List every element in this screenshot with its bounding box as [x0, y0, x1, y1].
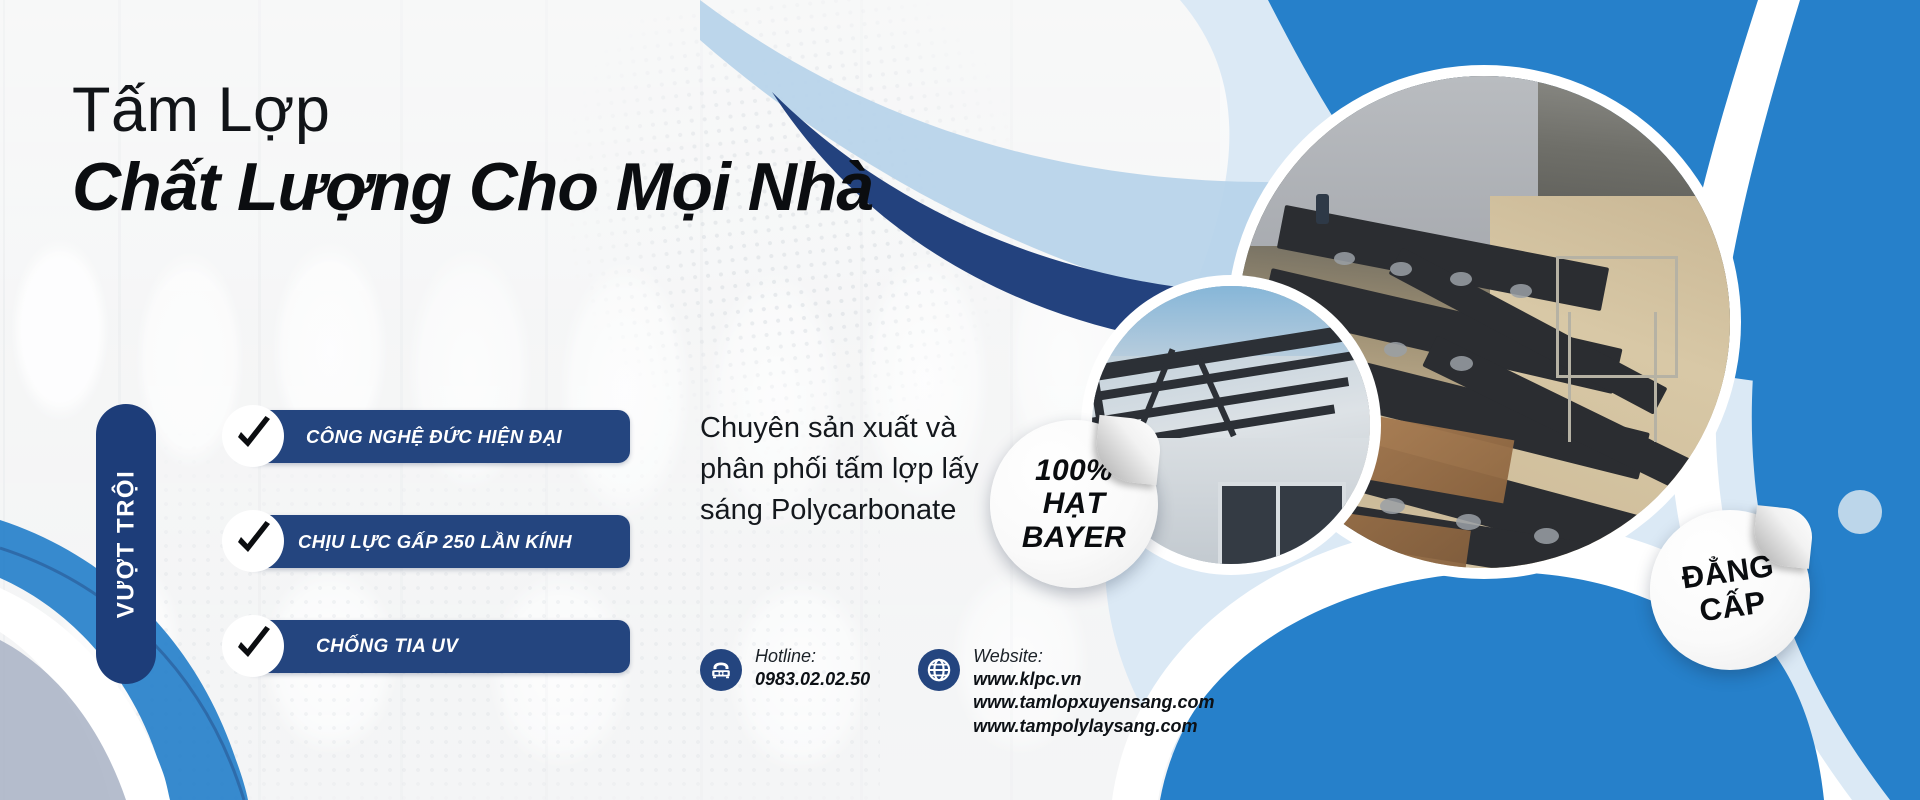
check-icon — [222, 510, 284, 572]
promo-banner: Tấm Lợp Chất Lượng Cho Mọi Nhà VƯỢT TRỘI… — [0, 0, 1920, 800]
description-text: Chuyên sản xuất và phân phối tấm lợp lấy… — [700, 408, 1000, 532]
bayer-line-2: HẠT — [1022, 487, 1126, 521]
hotline-value: 0983.02.02.50 — [755, 668, 870, 692]
feature-pill-1: CÔNG NGHỆ ĐỨC HIỆN ĐẠI — [244, 410, 630, 463]
feature-list: CÔNG NGHỆ ĐỨC HIỆN ĐẠI CHỊU LỰC GẤP 250 … — [222, 410, 630, 725]
dangcap-sticker: ĐẲNG CẤP — [1650, 510, 1810, 670]
feature-label-1: CÔNG NGHỆ ĐỨC HIỆN ĐẠI — [306, 426, 562, 448]
feature-label-3: CHỐNG TIA UV — [316, 636, 458, 658]
check-icon — [222, 405, 284, 467]
website-title: Website: — [973, 645, 1214, 668]
vertical-tab-vuot-troi: VƯỢT TRỘI — [96, 404, 156, 684]
website-url-2[interactable]: www.tamlopxuyensang.com — [973, 691, 1214, 715]
website-url-3[interactable]: www.tampolylaysang.com — [973, 715, 1214, 739]
bayer-line-3: BAYER — [1022, 521, 1126, 555]
contact-row: Hotline: 0983.02.02.50 Website: www.klpc… — [700, 645, 1215, 739]
vertical-tab-label: VƯỢT TRỘI — [112, 470, 140, 619]
feature-item-2[interactable]: CHỊU LỰC GẤP 250 LẦN KÍNH — [222, 515, 630, 568]
feature-pill-2: CHỊU LỰC GẤP 250 LẦN KÍNH — [244, 515, 630, 568]
check-icon — [222, 615, 284, 677]
feature-item-1[interactable]: CÔNG NGHỆ ĐỨC HIỆN ĐẠI — [222, 410, 630, 463]
headline: Tấm Lợp Chất Lượng Cho Mọi Nhà — [72, 75, 1032, 224]
hotline-title: Hotline: — [755, 645, 870, 668]
feature-item-3[interactable]: CHỐNG TIA UV — [222, 620, 630, 673]
headline-line-2: Chất Lượng Cho Mọi Nhà — [72, 150, 1032, 225]
telephone-icon — [700, 649, 742, 691]
website-url-1[interactable]: www.klpc.vn — [973, 668, 1214, 692]
accent-dot — [1838, 490, 1882, 534]
feature-pill-3: CHỐNG TIA UV — [244, 620, 630, 673]
globe-icon — [918, 649, 960, 691]
bayer-sticker: 100% HẠT BAYER — [990, 420, 1158, 588]
contact-hotline[interactable]: Hotline: 0983.02.02.50 — [700, 645, 870, 691]
feature-label-2: CHỊU LỰC GẤP 250 LẦN KÍNH — [298, 531, 572, 553]
contact-website[interactable]: Website: www.klpc.vn www.tamlopxuyensang… — [918, 645, 1214, 739]
dangcap-sticker-text: ĐẲNG CẤP — [1679, 549, 1780, 631]
headline-line-1: Tấm Lợp — [72, 75, 1032, 146]
